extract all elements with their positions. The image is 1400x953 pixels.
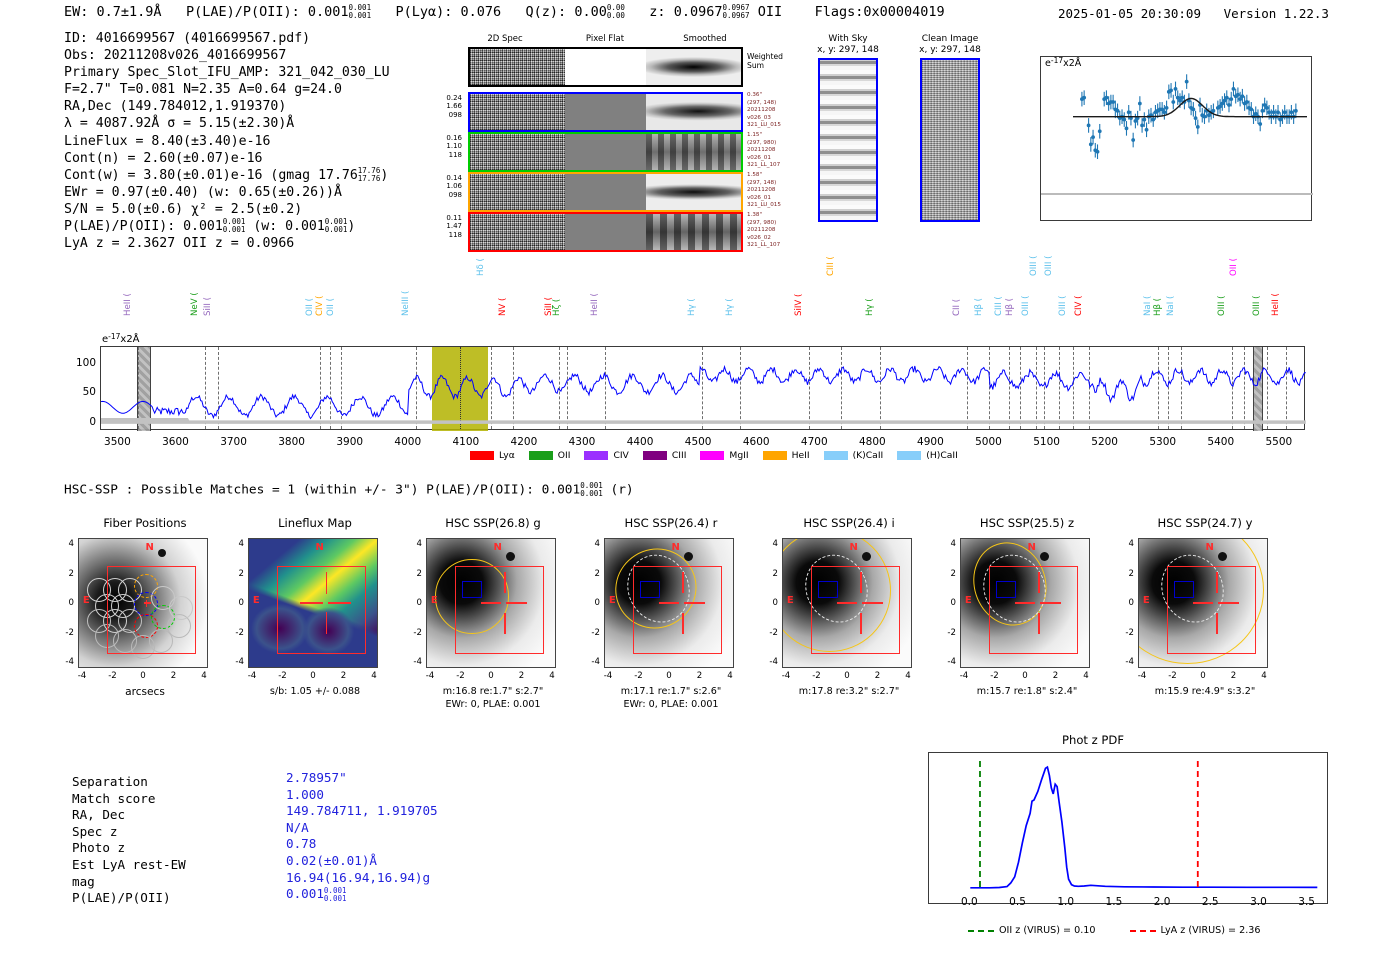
cutout-y-tick: -2 <box>224 628 244 638</box>
spec2d-row1-right-labels: 1.15"(297, 980)20211208v026_01321_LL_107 <box>747 132 780 170</box>
phot-z-pdf-legend: OII z (VIRUS) = 0.10LyA z (VIRUS) = 2.36 <box>968 925 1261 936</box>
cutout-panel-title: Fiber Positions <box>52 516 238 530</box>
header-z-value: 0.0967 <box>674 4 723 20</box>
info-line-lineflux: LineFlux = 8.40(±3.40)e-16 <box>64 133 390 150</box>
cutout-y-tick: 2 <box>580 569 600 579</box>
spectrum-line-label: CIV ( <box>1074 296 1084 317</box>
with-sky-title: With Sky x, y: 297, 148 <box>803 34 893 56</box>
compass-north-label: N <box>316 542 324 553</box>
cutout-x-tick: 0 <box>657 671 681 681</box>
match-value-estew: 0.02(±0.01)Å <box>286 853 438 870</box>
cutout-panel-5: HSC SSP(26.4) iNE420-2-4-4-2024m:17.8 re… <box>756 516 942 726</box>
spectrum-legend-label: OII <box>558 450 571 461</box>
line-profile-axes <box>1040 56 1312 221</box>
phot-z-x-tick: 3.5 <box>1287 896 1327 908</box>
cutout-image: NE <box>426 538 556 668</box>
compass-east-label: E <box>965 595 972 606</box>
spectrum-line-label: NeV ( <box>190 292 200 316</box>
neighbor-source <box>506 552 515 561</box>
info-line-params: F=2.7" T=0.081 N=2.35 A=0.64 g=24.0 <box>64 81 390 98</box>
spectrum-legend-swatch <box>470 451 494 460</box>
cutout-y-tick: 0 <box>936 598 956 608</box>
crosshair-right <box>328 602 351 604</box>
info-line-radec: RA,Dec (149.784012,1.919370) <box>64 98 390 115</box>
spectrum-line-label: OIII ( <box>1029 256 1039 276</box>
cutout-image: NE <box>78 538 208 668</box>
info-line-cont-n: Cont(n) = 2.60(±0.07)e-16 <box>64 150 390 167</box>
spectrum-line-label: HeII ( <box>590 293 600 316</box>
spectrum-legend-item: (H)CaII <box>897 450 958 461</box>
cutout-y-tick: 2 <box>402 569 422 579</box>
spec2d-montage: 2D Spec Pixel Flat Smoothed Weighted Sum… <box>455 34 755 256</box>
crosshair-left <box>837 602 857 604</box>
header-qz-label: Q(z): <box>526 4 567 20</box>
crosshair-bottom <box>1216 613 1218 633</box>
cutout-panel-title: Lineflux Map <box>222 516 408 530</box>
cutout-panel-title: HSC SSP(26.8) g <box>400 516 586 530</box>
cutout-x-tick: 2 <box>1222 671 1246 681</box>
cutout-x-tick: 2 <box>332 671 356 681</box>
spectrum-line-label: OII ( <box>326 298 336 316</box>
crosshair-right <box>862 602 882 604</box>
cutout-footnote-1: s/b: 1.05 +/- 0.088 <box>222 686 408 697</box>
cutout-footnote-2: EWr: 0, PLAE: 0.001 <box>578 699 764 710</box>
phot-z-x-tick: 2.5 <box>1190 896 1230 908</box>
cutout-x-tick: 0 <box>1191 671 1215 681</box>
cutout-x-tick: -2 <box>627 671 651 681</box>
info-line-sn: S/N = 5.0(±0.6) χ² = 2.5(±0.2) <box>64 201 390 218</box>
cutout-y-tick: 4 <box>1114 539 1134 549</box>
cutout-y-tick: 2 <box>1114 569 1134 579</box>
compass-east-label: E <box>83 595 90 606</box>
compass-north-label: N <box>1206 542 1214 553</box>
fov-box <box>811 566 900 654</box>
cutout-panel-title: HSC SSP(26.4) i <box>756 516 942 530</box>
spectrum-line-label: OIII ( <box>1021 296 1031 316</box>
header-ew: EW: 0.7±1.9Å <box>64 4 162 20</box>
cutout-image: NE <box>782 538 912 668</box>
cutout-footnote-2: EWr: 0, PLAE: 0.001 <box>400 699 586 710</box>
spectrum-legend-item: CIII <box>643 450 687 461</box>
cutout-y-tick: 2 <box>224 569 244 579</box>
cutout-y-tick: -4 <box>758 657 778 667</box>
compass-east-label: E <box>1143 595 1150 606</box>
spec2d-row-red <box>468 212 743 252</box>
phot-z-legend-label: OII z (VIRUS) = 0.10 <box>999 925 1096 936</box>
neighbor-source <box>158 549 166 557</box>
spectrum-x-tick: 5100 <box>1023 436 1071 448</box>
crosshair-right <box>1218 602 1238 604</box>
phot-z-legend-label: LyA z (VIRUS) = 2.36 <box>1161 925 1261 936</box>
info-line-slot: Primary Spec_Slot_IFU_AMP: 321_042_030_L… <box>64 64 390 81</box>
crosshair-bottom <box>1038 613 1040 633</box>
phot-z-x-tick: 1.5 <box>1094 896 1134 908</box>
spectrum-legend-label: (H)CaII <box>926 450 958 461</box>
cutout-y-tick: -2 <box>1114 628 1134 638</box>
spec2d-row0-left-labels: 0.241.66098 <box>420 94 462 119</box>
phot-z-x-tick: 2.0 <box>1142 896 1182 908</box>
info-line-obs: Obs: 20211208v026_4016699567 <box>64 47 390 64</box>
crosshair-left <box>659 602 679 604</box>
line-profile-panel: e-17x2Å 020406080 4040406040804100412041… <box>1040 56 1312 221</box>
crosshair-left <box>1015 602 1035 604</box>
cutout-x-tick: 0 <box>835 671 859 681</box>
clean-image-title: Clean Image x, y: 297, 148 <box>902 34 998 56</box>
spectrum-x-tick: 4500 <box>674 436 722 448</box>
cutout-x-tick: -4 <box>952 671 976 681</box>
crosshair-top <box>860 572 862 592</box>
spectrum-x-tick: 5500 <box>1255 436 1303 448</box>
cutout-panel-7: HSC SSP(24.7) yNE420-2-4-4-2024m:15.9 re… <box>1112 516 1298 726</box>
spectrum-x-tick: 3600 <box>151 436 199 448</box>
cutout-x-tick: -2 <box>1161 671 1185 681</box>
spectrum-line-label: CIII ( <box>994 296 1004 316</box>
spectrum-x-tick: 4600 <box>732 436 780 448</box>
cutout-y-tick: -2 <box>402 628 422 638</box>
cutout-x-tick: 2 <box>1044 671 1068 681</box>
cutout-y-tick: -2 <box>54 628 74 638</box>
spectrum-legend-label: MgII <box>729 450 748 461</box>
spectrum-line-label: NV ( <box>498 298 508 316</box>
spectrum-legend-item: MgII <box>700 450 748 461</box>
cutout-y-tick: -4 <box>224 657 244 667</box>
cutout-x-tick: 4 <box>896 671 920 681</box>
spectrum-legend-item: Lyα <box>470 450 515 461</box>
compass-north-label: N <box>850 542 858 553</box>
spectrum-legend-item: OII <box>529 450 571 461</box>
cutout-y-tick: -2 <box>758 628 778 638</box>
spectrum-y-tick: 0 <box>66 416 96 428</box>
cutout-x-tick: 2 <box>866 671 890 681</box>
spectrum-x-tick: 4900 <box>906 436 954 448</box>
cutout-x-tick: -2 <box>101 671 125 681</box>
cutout-y-tick: -2 <box>936 628 956 638</box>
spectrum-legend-swatch <box>824 451 848 460</box>
spectrum-legend-label: HeII <box>792 450 810 461</box>
spectrum-x-tick: 4300 <box>558 436 606 448</box>
phot-z-legend-dash <box>968 930 994 932</box>
spectrum-unit-annotation: e-17x2Å <box>102 334 140 345</box>
clean-image-image <box>920 58 980 222</box>
crosshair-left <box>481 602 501 604</box>
spectrum-x-tick: 4800 <box>848 436 896 448</box>
spectrum-line-label: CIII ( <box>826 256 836 276</box>
cutout-panel-title: HSC SSP(26.4) r <box>578 516 764 530</box>
cutout-y-tick: 4 <box>224 539 244 549</box>
spectrum-x-tick: 4700 <box>790 436 838 448</box>
crosshair-right <box>506 602 526 604</box>
spectrum-y-tick: 100 <box>66 357 96 369</box>
cutout-y-tick: 0 <box>580 598 600 608</box>
cutout-x-tick: 4 <box>362 671 386 681</box>
header-z-species: OII <box>758 4 782 20</box>
crosshair-top <box>504 572 506 592</box>
spectrum-x-tick: 4400 <box>616 436 664 448</box>
cutout-image: NE <box>604 538 734 668</box>
spectrum-x-tick: 5000 <box>965 436 1013 448</box>
info-line-id: ID: 4016699567 (4016699567.pdf) <box>64 30 390 47</box>
cutout-image: NE <box>248 538 378 668</box>
spec2d-col-title-smoothed: Smoothed <box>655 34 755 44</box>
phot-z-x-tick: 0.0 <box>949 896 989 908</box>
cutout-x-tick: -2 <box>983 671 1007 681</box>
spectrum-x-tick: 3800 <box>268 436 316 448</box>
detection-info-block: ID: 4016699567 (4016699567.pdf) Obs: 202… <box>64 30 390 252</box>
cutout-y-tick: 0 <box>402 598 422 608</box>
cutout-x-tick: -4 <box>240 671 264 681</box>
match-label-mag: mag <box>72 874 186 891</box>
spectrum-x-tick: 4100 <box>442 436 490 448</box>
cutout-y-tick: 4 <box>758 539 778 549</box>
cutout-x-tick: 2 <box>688 671 712 681</box>
spectrum-legend-item: CIV <box>584 450 628 461</box>
spectrum-x-tick: 3700 <box>210 436 258 448</box>
cutout-y-tick: 2 <box>758 569 778 579</box>
spectrum-line-label: CIV ( <box>315 296 325 317</box>
header-timestamp: 2025-01-05 20:30:09 <box>1058 6 1201 21</box>
crosshair-left <box>1193 602 1213 604</box>
cutout-footnote-1: m:17.1 re:1.7" s:2.6" <box>578 686 764 697</box>
cutout-y-tick: 4 <box>936 539 956 549</box>
cutout-panel-4: HSC SSP(26.4) rNE420-2-4-4-2024m:17.1 re… <box>578 516 764 726</box>
spectrum-line-label: NeIII ( <box>401 291 411 316</box>
cutout-x-tick: 2 <box>162 671 186 681</box>
cutout-panel-3: HSC SSP(26.8) gNE420-2-4-4-2024m:16.8 re… <box>400 516 586 726</box>
spectrum-line-label: HeII ( <box>1271 293 1281 316</box>
cutout-x-tick: 4 <box>1074 671 1098 681</box>
cutout-x-axis-label: arcsecs <box>52 686 238 698</box>
header-version: Version 1.22.3 <box>1224 6 1329 21</box>
phot-z-legend-item: LyA z (VIRUS) = 2.36 <box>1130 925 1261 936</box>
cutout-y-tick: 0 <box>1114 598 1134 608</box>
match-value-plae: 0.0010.0010.001 <box>286 886 438 903</box>
spectrum-x-tick: 4000 <box>384 436 432 448</box>
cutout-x-tick: -4 <box>418 671 442 681</box>
cutout-y-tick: -4 <box>402 657 422 667</box>
spectrum-legend-label: Lyα <box>499 450 515 461</box>
spectrum-line-label: Hβ ( <box>1153 298 1163 316</box>
spectrum-line-label: Hζ ( <box>552 299 562 316</box>
info-line-redshifts: LyA z = 2.3627 OII z = 0.0966 <box>64 235 390 252</box>
spectrum-legend-swatch <box>584 451 608 460</box>
cutout-y-tick: -4 <box>580 657 600 667</box>
info-line-cont-w: Cont(w) = 3.80(±0.01)e-16 (gmag 17.7617.… <box>64 167 390 184</box>
cutout-panel-title: HSC SSP(25.5) z <box>934 516 1120 530</box>
spectrum-line-label: OIII ( <box>1058 296 1068 316</box>
match-table-labels: Separation Match score RA, Dec Spec z Ph… <box>72 774 186 907</box>
cutout-y-tick: 4 <box>402 539 422 549</box>
match-value-separation: 2.78957" <box>286 770 438 787</box>
header-meta: 2025-01-05 20:30:09 Version 1.22.3 <box>1058 6 1329 21</box>
spectrum-line-label: CII ( <box>952 299 962 316</box>
cutout-footnote-1: m:16.8 re:1.7" s:2.7" <box>400 686 586 697</box>
cutout-y-tick: -4 <box>54 657 74 667</box>
header-plae-poii-label: P(LAE)/P(OII): <box>186 4 300 20</box>
spectrum-line-label: HeII ( <box>123 293 133 316</box>
line-profile-zero-line <box>1041 193 1313 195</box>
header-plae-poii-value: 0.001 <box>308 4 349 20</box>
spectrum-line-label: OII ( <box>305 298 315 316</box>
compass-east-label: E <box>609 595 616 606</box>
phot-z-pdf-svg <box>929 753 1329 905</box>
crosshair-left <box>300 602 323 604</box>
cutout-panel-6: HSC SSP(25.5) zNE420-2-4-4-2024m:15.7 re… <box>934 516 1120 726</box>
spectrum-line-label: NaI ( <box>1143 296 1153 316</box>
spectrum-x-tick: 5400 <box>1197 436 1245 448</box>
spec2d-row-blue <box>468 92 743 132</box>
crosshair-top <box>1216 572 1218 592</box>
fov-box <box>107 566 196 654</box>
cutout-image: NE <box>960 538 1090 668</box>
spectrum-x-tick: 5300 <box>1139 436 1187 448</box>
phot-z-pdf-title: Phot z PDF <box>1062 733 1124 747</box>
spectrum-legend-swatch <box>700 451 724 460</box>
cutout-x-tick: 0 <box>301 671 325 681</box>
spectrum-legend-swatch <box>763 451 787 460</box>
crosshair-bottom <box>682 613 684 633</box>
match-label-photoz: Photo z <box>72 840 186 857</box>
match-label-specz: Spec z <box>72 824 186 841</box>
cutout-y-tick: 2 <box>936 569 956 579</box>
cutout-y-tick: 2 <box>54 569 74 579</box>
crosshair-top <box>1038 572 1040 592</box>
info-line-lambda: λ = 4087.92Å σ = 5.15(±2.30)Å <box>64 115 390 132</box>
spec2d-fiber-rows: 0.241.66098 0.36"(297, 148)20211208v026_… <box>468 92 743 252</box>
with-sky-image <box>818 58 878 222</box>
info-line-plae: P(LAE)/P(OII): 0.0010.0010.001 (w: 0.001… <box>64 218 390 235</box>
spec2d-row-green <box>468 132 743 172</box>
cutout-footnote-1: m:15.9 re:4.9" s:3.2" <box>1112 686 1298 697</box>
header-plae-poii-range: 0.0010.001 <box>349 4 372 20</box>
compass-east-label: E <box>431 595 438 606</box>
compass-north-label: N <box>1028 542 1036 553</box>
cutout-y-tick: 0 <box>758 598 778 608</box>
cutout-x-tick: 4 <box>718 671 742 681</box>
cutout-x-tick: -4 <box>1130 671 1154 681</box>
spectrum-legend-swatch <box>643 451 667 460</box>
spec2d-weighted-sum-label: Weighted Sum <box>747 52 783 70</box>
cutout-footnote-1: m:15.7 re:1.8" s:2.4" <box>934 686 1120 697</box>
match-label-radec: RA, Dec <box>72 807 186 824</box>
spec2d-row3-left-labels: 0.111.47118 <box>420 214 462 239</box>
spectrum-line-label: SiIV ( <box>794 294 804 316</box>
spectrum-line-label: OIII ( <box>1044 256 1054 276</box>
spectrum-x-tick: 3500 <box>93 436 141 448</box>
header-qz-value: 0.00 <box>574 4 607 20</box>
crosshair-top <box>326 572 328 594</box>
fov-box <box>1167 566 1256 654</box>
match-value-specz: N/A <box>286 820 438 837</box>
spectrum-legend-label: (K)CaII <box>853 450 884 461</box>
spectrum-legend: LyαOIICIVCIIIMgIIHeII(K)CaII(H)CaII <box>470 450 958 461</box>
crosshair-bottom <box>326 612 328 634</box>
spectrum-line-label: Hδ ( <box>476 258 486 276</box>
spectrum-legend-label: CIII <box>672 450 687 461</box>
spectrum-line-label: Hγ ( <box>725 298 735 316</box>
spectrum-trace-svg <box>101 347 1306 431</box>
cutout-footnote-1: m:17.8 re:3.2" s:2.7" <box>756 686 942 697</box>
cutout-x-tick: -2 <box>271 671 295 681</box>
spectrum-x-tick: 4200 <box>500 436 548 448</box>
line-profile-unit-annotation: e-17x2Å <box>1045 58 1081 69</box>
cutout-x-tick: 0 <box>131 671 155 681</box>
full-spectrum-axes <box>100 346 1305 430</box>
cutout-panel-1: Fiber PositionsNE420-2-4-4-2024arcsecs <box>52 516 238 726</box>
spectrum-y-tick: 50 <box>66 386 96 398</box>
spectrum-line-label: OIII ( <box>1252 296 1262 316</box>
spec2d-col-title-pixelflat: Pixel Flat <box>555 34 655 44</box>
crosshair-bottom <box>504 613 506 633</box>
spec2d-weighted-sum-strip <box>468 47 743 87</box>
crosshair-right <box>684 602 704 604</box>
match-value-score: 1.000 <box>286 787 438 804</box>
crosshair-bottom <box>860 613 862 633</box>
cutout-x-tick: 4 <box>1252 671 1276 681</box>
match-label-score: Match score <box>72 791 186 808</box>
spectrum-legend-label: CIV <box>613 450 628 461</box>
cutout-x-tick: -2 <box>805 671 829 681</box>
phot-z-legend-dash <box>1130 930 1156 932</box>
cutout-x-tick: 0 <box>479 671 503 681</box>
spec2d-row2-left-labels: 0.141.06098 <box>420 174 462 199</box>
header-z-label: z: <box>649 4 665 20</box>
phot-z-legend-item: OII z (VIRUS) = 0.10 <box>968 925 1096 936</box>
spec2d-row1-left-labels: 0.161.10118 <box>420 134 462 159</box>
spectrum-line-label: NaI ( <box>1166 296 1176 316</box>
cutout-y-tick: -4 <box>936 657 956 667</box>
spectrum-legend-swatch <box>529 451 553 460</box>
fov-box <box>989 566 1078 654</box>
match-value-mag: 16.94(16.94,16.94)g <box>286 870 438 887</box>
cutout-x-tick: 2 <box>510 671 534 681</box>
spectrum-line-label: Hγ ( <box>687 298 697 316</box>
cutout-image: NE <box>1138 538 1268 668</box>
header-flags: Flags:0x00004019 <box>815 4 945 20</box>
cutout-x-tick: -4 <box>774 671 798 681</box>
compass-north-label: N <box>146 542 154 553</box>
spectrum-legend-item: HeII <box>763 450 810 461</box>
compass-east-label: E <box>787 595 794 606</box>
compass-north-label: N <box>494 542 502 553</box>
fov-box <box>277 566 366 654</box>
cutout-panel-title: HSC SSP(24.7) y <box>1112 516 1298 530</box>
match-table-values: 2.78957" 1.000 149.784711, 1.919705 N/A … <box>286 770 438 903</box>
cutout-x-tick: 4 <box>540 671 564 681</box>
spectrum-line-label: SiII ( <box>203 297 213 316</box>
header-qz-range: 0.000.00 <box>607 4 625 20</box>
spectrum-legend-item: (K)CaII <box>824 450 884 461</box>
crosshair-top <box>682 572 684 592</box>
spectrum-line-label: Hβ ( <box>1005 298 1015 316</box>
spectrum-x-tick: 3900 <box>326 436 374 448</box>
spectrum-line-label: OIII ( <box>1217 296 1227 316</box>
phot-z-pdf-axes <box>928 752 1328 904</box>
cutout-y-tick: 0 <box>224 598 244 608</box>
match-value-photoz: 0.78 <box>286 836 438 853</box>
cutout-y-tick: 4 <box>54 539 74 549</box>
spectrum-x-tick: 5200 <box>1081 436 1129 448</box>
spectrum-line-label: OII ( <box>1229 258 1239 276</box>
cutout-panel-2: Lineflux MapNE420-2-4-4-2024s/b: 1.05 +/… <box>222 516 408 726</box>
cutout-x-tick: -4 <box>70 671 94 681</box>
cutout-y-tick: 4 <box>580 539 600 549</box>
spec2d-row-orange <box>468 172 743 212</box>
crosshair-right <box>1040 602 1060 604</box>
cutout-x-tick: 4 <box>192 671 216 681</box>
header-plya: P(Lyα): 0.076 <box>395 4 501 20</box>
spectrum-legend-swatch <box>897 451 921 460</box>
fov-box <box>633 566 722 654</box>
